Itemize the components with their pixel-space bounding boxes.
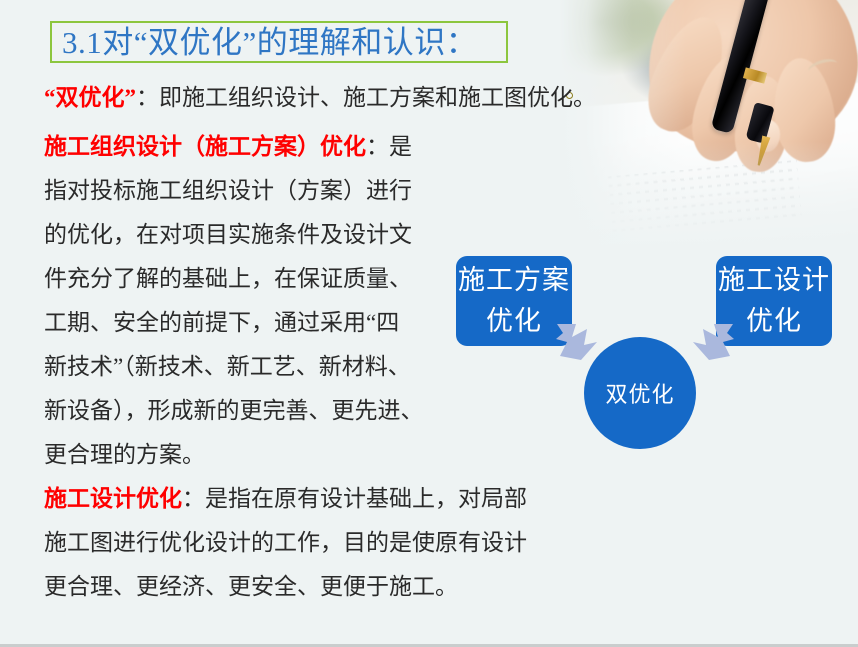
paragraph-design-emphasis: 施工设计优化 bbox=[44, 486, 182, 511]
photo-fingernail bbox=[707, 97, 742, 137]
paragraph-definition: “双优化”：即施工组织设计、施工方案和施工图优化。 bbox=[44, 76, 664, 120]
photo-pen-nib bbox=[752, 135, 772, 167]
paragraph-line-text: ：是指在原有设计基础上，对局部 bbox=[182, 486, 527, 511]
paragraph-design-optimization: 施工设计优化：是指在原有设计基础上，对局部 施工图进行优化设计的工作，目的是使原… bbox=[44, 477, 664, 609]
paragraph-scheme-emphasis: 施工组织设计（施工方案）优化 bbox=[44, 134, 366, 159]
photo-finger bbox=[731, 74, 793, 175]
photo-finger bbox=[684, 49, 764, 167]
paragraph-line: 施工组织设计（施工方案）优化：是 bbox=[44, 125, 664, 169]
paragraph-line: 更合理、更经济、更安全、更便于施工。 bbox=[44, 565, 664, 609]
photo-finger bbox=[769, 55, 840, 165]
arrow-right-to-center-icon bbox=[690, 320, 736, 366]
paragraph-line-text: ：是 bbox=[366, 134, 412, 159]
page-title: 3.1对“双优化”的理解和认识： bbox=[62, 23, 508, 63]
photo-pen-grip bbox=[745, 102, 774, 144]
slide-canvas: 3.1对“双优化”的理解和认识： “双优化”：即施工组织设计、施工方案和施工图优… bbox=[0, 0, 858, 647]
optimization-diagram: 施工方案优化 施工设计优化 双优化 bbox=[450, 240, 850, 455]
photo-pen-gold-band bbox=[743, 67, 767, 83]
paragraph-line: 施工图进行优化设计的工作，目的是使原有设计 bbox=[44, 521, 664, 565]
photo-fingernail bbox=[754, 118, 782, 153]
photo-pen-barrel bbox=[711, 0, 776, 134]
arrow-left-to-center-icon bbox=[554, 320, 600, 366]
paragraph-line: 施工设计优化：是指在原有设计基础上，对局部 bbox=[44, 477, 664, 521]
paragraph-definition-emphasis: “双优化” bbox=[44, 85, 136, 110]
diagram-center-node[interactable]: 双优化 bbox=[584, 337, 696, 449]
paragraph-line: 指对投标施工组织设计（方案）进行 bbox=[44, 169, 664, 213]
paragraph-definition-rest: ：即施工组织设计、施工方案和施工图优化。 bbox=[136, 85, 596, 110]
photo-ring bbox=[807, 56, 840, 79]
